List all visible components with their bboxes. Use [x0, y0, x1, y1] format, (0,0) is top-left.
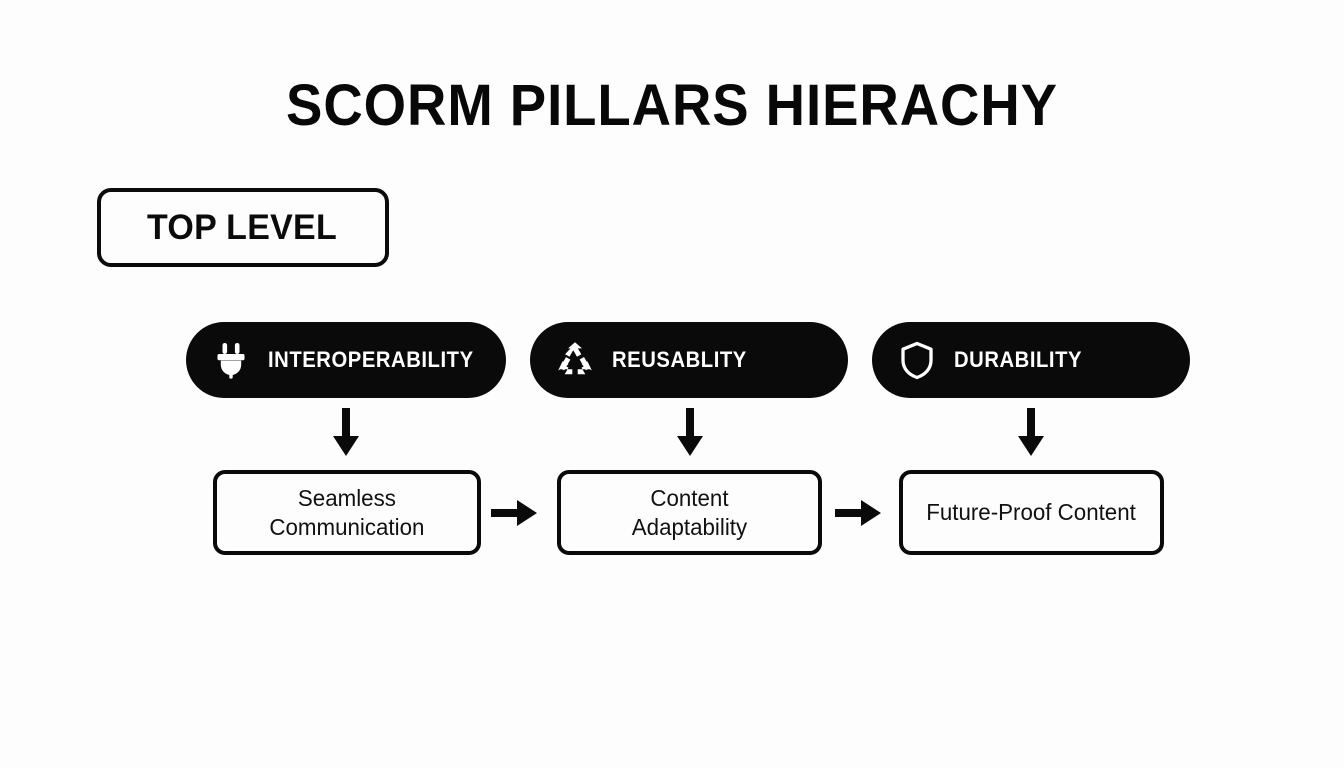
- top-level-box[interactable]: TOP LEVEL: [97, 188, 389, 267]
- diagram-canvas: SCORM PILLARS HIERACHY TOP LEVEL INTEROP…: [0, 0, 1344, 768]
- recycle-icon: [554, 339, 596, 381]
- arrow-head: [517, 500, 537, 526]
- arrow-shaft: [342, 408, 350, 438]
- top-level-label: TOP LEVEL: [147, 208, 337, 248]
- outcome-label: Seamless Communication: [269, 484, 424, 542]
- arrow-down-icon: [1016, 408, 1046, 456]
- pillar-reusability[interactable]: REUSABLITY: [530, 322, 848, 398]
- shield-icon: [896, 339, 938, 381]
- pillar-label: DURABILITY: [954, 347, 1082, 373]
- outcome-box-future-proof-content[interactable]: Future-Proof Content: [899, 470, 1164, 555]
- arrow-head: [677, 436, 703, 456]
- arrow-head: [861, 500, 881, 526]
- arrow-head: [333, 436, 359, 456]
- pillar-durability[interactable]: DURABILITY: [872, 322, 1190, 398]
- outcome-label: Future-Proof Content: [927, 498, 1137, 527]
- arrow-right-icon: [835, 500, 883, 526]
- outcome-box-content-adaptability[interactable]: Content Adaptability: [557, 470, 822, 555]
- arrow-down-icon: [675, 408, 705, 456]
- arrow-shaft: [1027, 408, 1035, 438]
- pillar-label: REUSABLITY: [612, 347, 747, 373]
- page-title: SCORM PILLARS HIERACHY: [40, 72, 1303, 139]
- arrow-head: [1018, 436, 1044, 456]
- arrow-shaft: [686, 408, 694, 438]
- plug-icon: [210, 339, 252, 381]
- pillar-label: INTEROPERABILITY: [268, 347, 474, 373]
- outcome-box-seamless-communication[interactable]: Seamless Communication: [213, 470, 481, 555]
- outcome-label: Content Adaptability: [632, 484, 747, 542]
- arrow-shaft: [835, 509, 863, 517]
- arrow-right-icon: [491, 500, 539, 526]
- pillar-interoperability[interactable]: INTEROPERABILITY: [186, 322, 506, 398]
- arrow-down-icon: [331, 408, 361, 456]
- arrow-shaft: [491, 509, 519, 517]
